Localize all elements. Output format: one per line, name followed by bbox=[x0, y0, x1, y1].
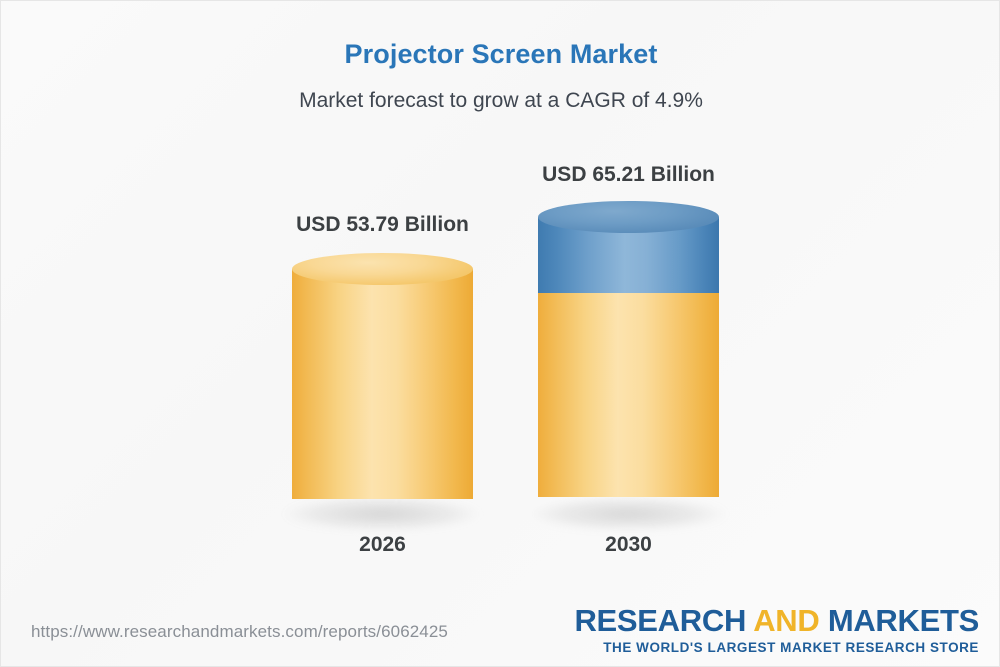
logo-tagline: THE WORLD'S LARGEST MARKET RESEARCH STOR… bbox=[574, 640, 979, 655]
logo-word-markets: MARKETS bbox=[828, 603, 979, 638]
plot-area: USD 53.79 Billion 2026 USD 65.21 Billion bbox=[1, 1, 1000, 601]
cylinder-body-2026 bbox=[292, 269, 473, 499]
cylinder-growth-2030 bbox=[538, 201, 719, 293]
bar-value-label-2030: USD 65.21 Billion bbox=[538, 163, 719, 187]
bar-category-label-2030: 2030 bbox=[538, 533, 719, 557]
cylinder-body-base-2030 bbox=[538, 277, 719, 497]
logo-wordmark: RESEARCH AND MARKETS bbox=[574, 605, 979, 638]
footer: https://www.researchandmarkets.com/repor… bbox=[1, 601, 1000, 667]
cylinder-base-2030 bbox=[538, 277, 719, 515]
cylinder-2026 bbox=[292, 253, 473, 515]
bar-category-label-2026: 2026 bbox=[292, 533, 473, 557]
cylinder-top-cap-2030 bbox=[538, 201, 719, 233]
logo-word-and: AND bbox=[753, 603, 819, 638]
report-url[interactable]: https://www.researchandmarkets.com/repor… bbox=[31, 622, 448, 642]
logo-word-research: RESEARCH bbox=[574, 603, 746, 638]
research-and-markets-logo[interactable]: RESEARCH AND MARKETS THE WORLD'S LARGEST… bbox=[574, 605, 979, 655]
cylinder-top-cap-2026 bbox=[292, 253, 473, 285]
bar-group-2030: USD 65.21 Billion 2030 bbox=[538, 151, 719, 601]
chart-canvas: Projector Screen Market Market forecast … bbox=[0, 0, 1000, 667]
bar-group-2026: USD 53.79 Billion 2026 bbox=[292, 201, 473, 601]
bar-value-label-2026: USD 53.79 Billion bbox=[292, 213, 473, 237]
